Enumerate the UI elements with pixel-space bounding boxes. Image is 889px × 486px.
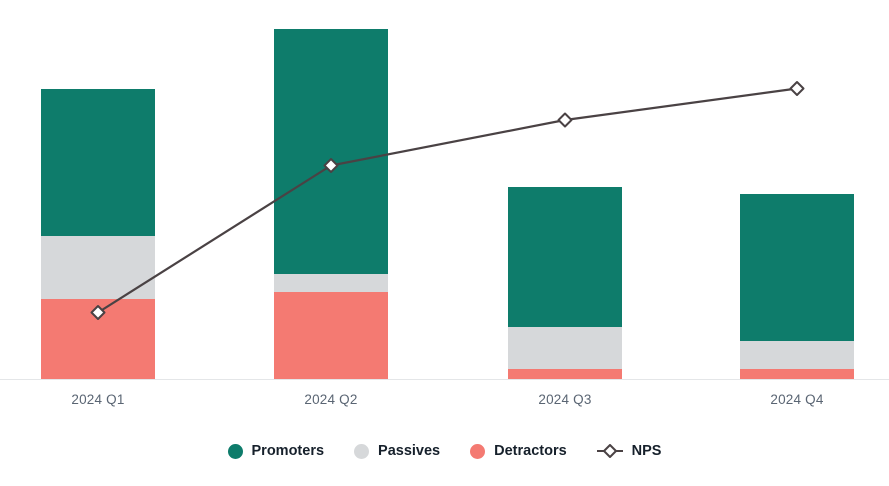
- nps-line-series: [0, 0, 889, 380]
- legend-item-passives[interactable]: Passives: [354, 443, 440, 459]
- legend-item-detractors[interactable]: Detractors: [470, 443, 567, 459]
- x-axis-line: [0, 379, 889, 380]
- x-tick-label: 2024 Q1: [28, 392, 168, 407]
- plot-area: [0, 0, 889, 380]
- legend-item-nps[interactable]: NPS: [597, 443, 662, 459]
- legend-label: Promoters: [252, 443, 325, 459]
- nps-marker-2024-q3[interactable]: [559, 114, 572, 127]
- x-tick-label: 2024 Q3: [495, 392, 635, 407]
- nps-line-path: [98, 89, 797, 313]
- nps-marker-2024-q1[interactable]: [92, 306, 105, 319]
- legend-line-diamond-icon: [597, 444, 623, 458]
- chart-legend: PromotersPassivesDetractorsNPS: [0, 438, 889, 464]
- legend-circle-icon: [470, 444, 485, 459]
- legend-label: NPS: [632, 443, 662, 459]
- x-tick-label: 2024 Q2: [261, 392, 401, 407]
- nps-marker-2024-q4[interactable]: [791, 82, 804, 95]
- x-tick-label: 2024 Q4: [727, 392, 867, 407]
- nps-marker-2024-q2[interactable]: [325, 159, 338, 172]
- nps-stacked-bar-chart: 2024 Q12024 Q22024 Q32024 Q4 PromotersPa…: [0, 0, 889, 486]
- legend-item-promoters[interactable]: Promoters: [228, 443, 325, 459]
- legend-label: Detractors: [494, 443, 567, 459]
- legend-circle-icon: [354, 444, 369, 459]
- legend-label: Passives: [378, 443, 440, 459]
- x-axis-labels: 2024 Q12024 Q22024 Q32024 Q4: [0, 392, 889, 416]
- legend-circle-icon: [228, 444, 243, 459]
